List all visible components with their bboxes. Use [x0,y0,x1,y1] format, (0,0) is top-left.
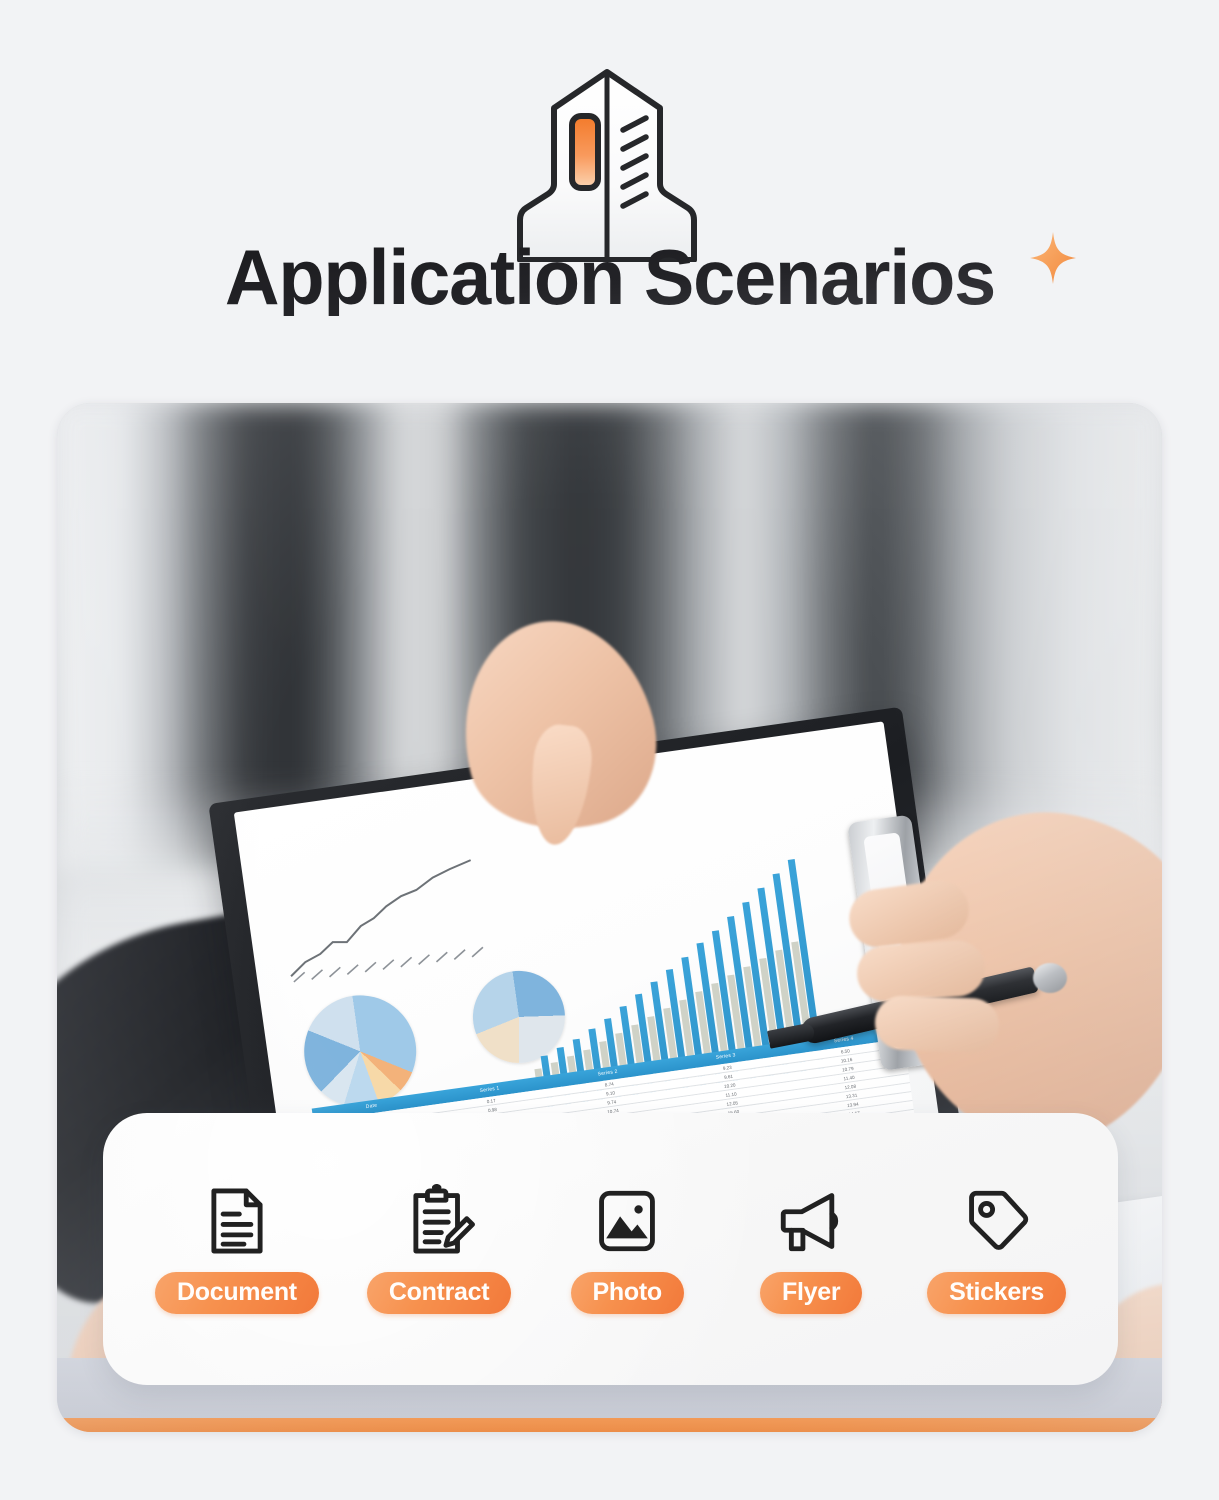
panel-accent-bar [57,1418,1162,1432]
sparkle-star-icon [1030,232,1076,284]
category-item-stickers[interactable]: Stickers [927,1184,1066,1314]
photo-image-icon [590,1184,664,1258]
document-icon [200,1184,274,1258]
category-label-document[interactable]: Document [155,1272,319,1314]
category-item-contract[interactable]: Contract [367,1184,511,1314]
finger-right-3 [874,995,1000,1053]
category-item-document[interactable]: Document [155,1184,319,1314]
page-title: Application Scenarios [224,238,994,316]
page-header: Application Scenarios [0,0,1219,370]
report-line-chart [271,848,514,989]
finger-ring [1033,963,1067,993]
category-label-contract[interactable]: Contract [367,1272,511,1314]
category-item-flyer[interactable]: Flyer [743,1184,879,1314]
category-item-photo[interactable]: Photo [559,1184,695,1314]
megaphone-icon [774,1184,848,1258]
contract-clipboard-icon [402,1184,476,1258]
tag-label-icon [960,1184,1034,1258]
finger-right-2 [855,939,987,1004]
category-card: Document Contract Photo [103,1113,1118,1385]
building-tower-icon [492,62,722,262]
category-label-photo[interactable]: Photo [571,1272,684,1314]
category-label-flyer[interactable]: Flyer [760,1272,862,1314]
category-label-stickers[interactable]: Stickers [927,1272,1066,1314]
